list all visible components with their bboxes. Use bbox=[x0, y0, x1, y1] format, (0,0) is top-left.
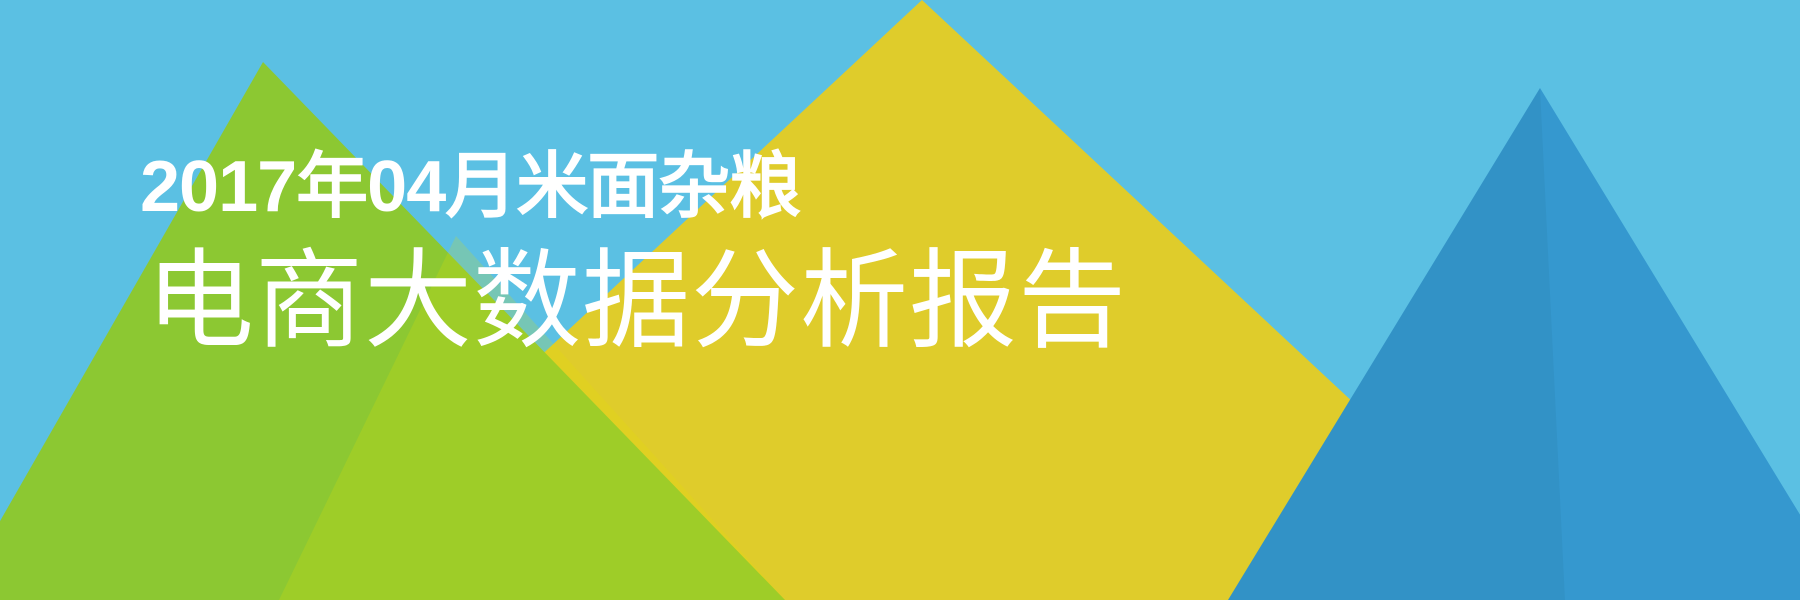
background-mountains-graphic bbox=[0, 0, 1800, 600]
report-cover-banner: 2017年04月米面杂粮 电商大数据分析报告 bbox=[0, 0, 1800, 600]
